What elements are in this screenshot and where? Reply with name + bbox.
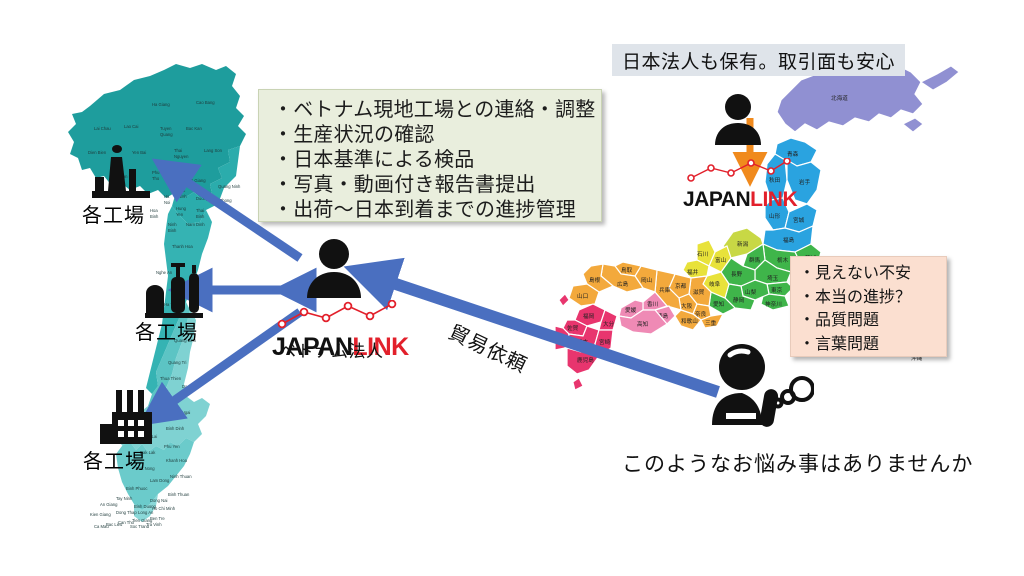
factory-refinery-icon: [145, 263, 207, 319]
factory-2-label: 各工場: [135, 316, 198, 345]
task-item: ・ベトナム現地工場との連絡・調整: [273, 98, 589, 123]
factory-3-label: 各工場: [83, 445, 146, 474]
japanlink-wordmark-japan: JAPANLINK: [683, 189, 797, 210]
task-item: ・生産状況の確認: [273, 123, 589, 148]
bottom-question-text: このようなお悩み事はありませんか: [622, 448, 972, 478]
arrow-trade-request: [372, 276, 718, 392]
vietnam-entity-label: ベトナム法人: [279, 337, 384, 362]
wordmark-japan: JAPAN: [683, 188, 750, 211]
japanlink-logo-japan: JAPANLINK: [683, 158, 797, 210]
worry-item: ・見えない不安: [799, 262, 940, 286]
network-chart-icon-vietnam: [272, 300, 402, 330]
factory-1-label: 各工場: [82, 199, 145, 228]
factory-stacks-icon: [96, 390, 168, 448]
worry-item: ・本当の進捗？: [799, 286, 940, 310]
wordmark-link: LINK: [750, 188, 797, 211]
worries-callout-box: ・見えない不安 ・本当の進捗？ ・品質問題 ・言葉問題: [790, 256, 947, 357]
top-banner-text: 日本法人も保有。取引面も安心: [622, 47, 895, 74]
slide-canvas: Lai ChauLao Cai Ha GiangCao Bang TuyenQu…: [0, 0, 1024, 576]
worry-item: ・言葉問題: [799, 333, 940, 357]
task-item: ・日本基準による検品: [273, 148, 589, 173]
worry-item: ・品質問題: [799, 309, 940, 333]
top-banner: 日本法人も保有。取引面も安心: [612, 44, 905, 76]
task-item: ・出荷～日本到着までの進捗管理: [273, 198, 589, 223]
task-item: ・写真・動画付き報告書提出: [273, 173, 589, 198]
person-icon-vietnam: [303, 238, 365, 300]
network-chart-icon-japan: [683, 158, 793, 184]
person-icon-japan: [711, 93, 765, 147]
factory-chimney-icon: [92, 145, 154, 201]
tasks-callout-box: ・ベトナム現地工場との連絡・調整 ・生産状況の確認 ・日本基準による検品 ・写真…: [258, 89, 602, 222]
